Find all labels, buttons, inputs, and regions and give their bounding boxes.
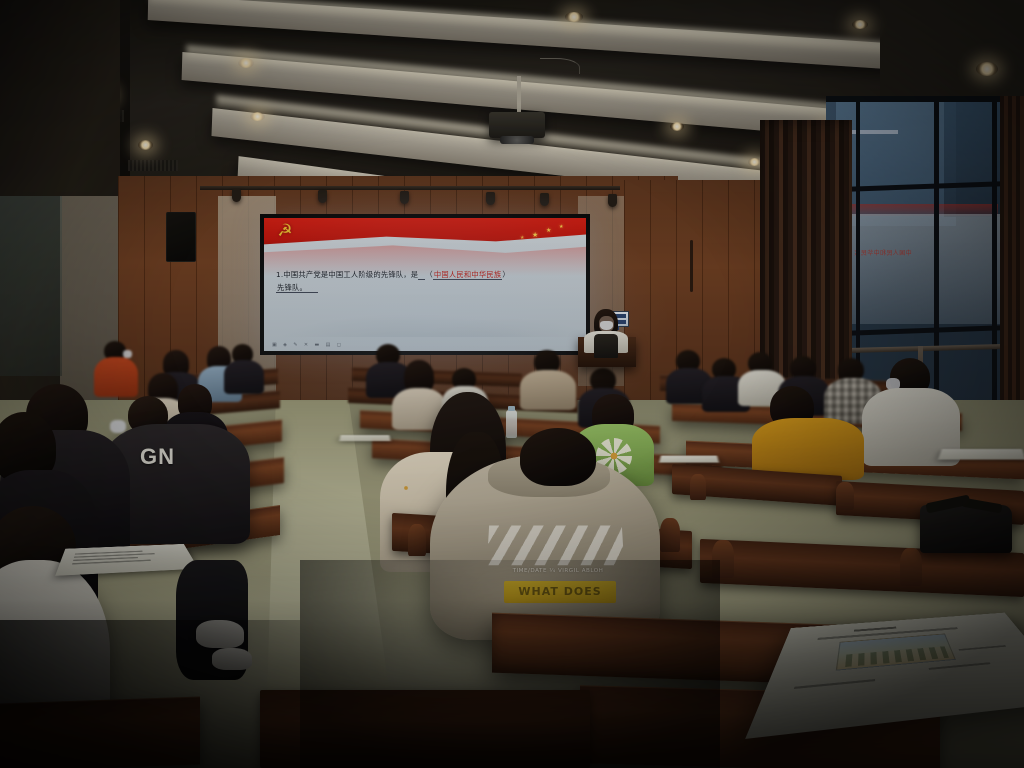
presenter-pinafore bbox=[594, 334, 618, 358]
desk-paper bbox=[659, 456, 719, 463]
lecture-hall-photo: ☭ ★ ★ ★ ★ 1.中国共产党是中国工人阶级的先锋队，是 （中国人民和中华民… bbox=[0, 0, 1024, 768]
track-light-head bbox=[608, 194, 617, 207]
wall-artwork-left bbox=[0, 196, 62, 376]
projector-cable bbox=[540, 58, 580, 74]
downlight bbox=[852, 20, 868, 29]
screen-reflection-text: 中国人民和中华民族 bbox=[854, 248, 912, 257]
ceiling-light-cove bbox=[150, 0, 940, 59]
window-mullion bbox=[826, 96, 1024, 102]
handout-figure-bars bbox=[845, 646, 949, 667]
foreground-person-head bbox=[520, 428, 596, 486]
bench-armrest bbox=[408, 524, 426, 556]
screen-reflection-text-2: 先锋队。 bbox=[944, 248, 970, 257]
water-bottle bbox=[506, 410, 517, 438]
star-icon: ★ bbox=[532, 231, 538, 239]
track-light-head bbox=[400, 191, 409, 204]
center-shadow bbox=[300, 560, 720, 768]
downlight bbox=[250, 112, 265, 121]
slide-blank-underline-2 bbox=[308, 283, 318, 293]
projection-screen-frame: ☭ ★ ★ ★ ★ 1.中国共产党是中国工人阶级的先锋队，是 （中国人民和中华民… bbox=[260, 214, 590, 355]
screen-reflection-body bbox=[844, 214, 1004, 324]
slide-background-art bbox=[264, 291, 586, 337]
downlight bbox=[670, 122, 684, 131]
track-light-head bbox=[486, 192, 495, 205]
projector-mount-pole bbox=[517, 76, 521, 114]
downlight bbox=[976, 62, 998, 76]
handout-header bbox=[854, 627, 896, 632]
track-light-rail bbox=[200, 186, 620, 190]
wall-speaker-left bbox=[166, 212, 196, 262]
bench-armrest bbox=[900, 548, 922, 586]
door-handle bbox=[690, 240, 693, 292]
slide-blank-open: （ bbox=[425, 270, 433, 279]
bench-armrest bbox=[660, 518, 680, 552]
slide-blank-close: ） bbox=[502, 270, 510, 279]
projection-screen: ☭ ★ ★ ★ ★ 1.中国共产党是中国工人阶级的先锋队，是 （中国人民和中华民… bbox=[264, 218, 586, 351]
black-handbag bbox=[920, 505, 1012, 553]
slide-text-line2: 先锋队。 bbox=[276, 283, 308, 293]
handout-line bbox=[794, 679, 875, 688]
track-light-head bbox=[318, 190, 327, 203]
person-body bbox=[520, 370, 576, 410]
slide-answer: 中国人民和中华民族 bbox=[433, 270, 502, 280]
left-shadow bbox=[0, 620, 300, 768]
downlight bbox=[565, 12, 583, 22]
hammer-and-sickle-icon: ☭ bbox=[274, 221, 296, 240]
face-mask bbox=[600, 321, 613, 330]
hvac-grille bbox=[128, 160, 178, 171]
slide-text-line1: 1.中国共产党是中国工人阶级的先锋队，是 bbox=[276, 270, 418, 279]
downlight bbox=[238, 58, 254, 68]
presentation-toolbar[interactable]: ▣ ◈ ✎ ✕ ▬ ▤ ◻ bbox=[272, 342, 343, 348]
slide-text-block: 1.中国共产党是中国工人阶级的先锋队，是 （中国人民和中华民族） 先锋队。 bbox=[276, 268, 576, 294]
face-mask bbox=[123, 350, 132, 358]
window-curtain-right bbox=[1000, 96, 1024, 426]
ceiling-projector bbox=[489, 112, 545, 138]
bottle-cap bbox=[508, 406, 515, 411]
projector-lens bbox=[500, 136, 534, 144]
downlight bbox=[138, 140, 153, 150]
face-mask bbox=[110, 420, 126, 433]
track-light-head bbox=[540, 193, 549, 206]
bench-armrest bbox=[836, 482, 854, 510]
person-body bbox=[224, 360, 264, 394]
jacket-logo-gn: GN bbox=[140, 444, 175, 470]
star-icon: ★ bbox=[546, 227, 551, 234]
track-light-head bbox=[232, 189, 241, 202]
desk-paper bbox=[339, 435, 390, 441]
handout-figure bbox=[836, 634, 956, 671]
bench-armrest bbox=[690, 474, 706, 500]
star-icon: ★ bbox=[520, 235, 524, 241]
star-icon: ★ bbox=[559, 224, 563, 230]
person-body bbox=[94, 357, 138, 397]
